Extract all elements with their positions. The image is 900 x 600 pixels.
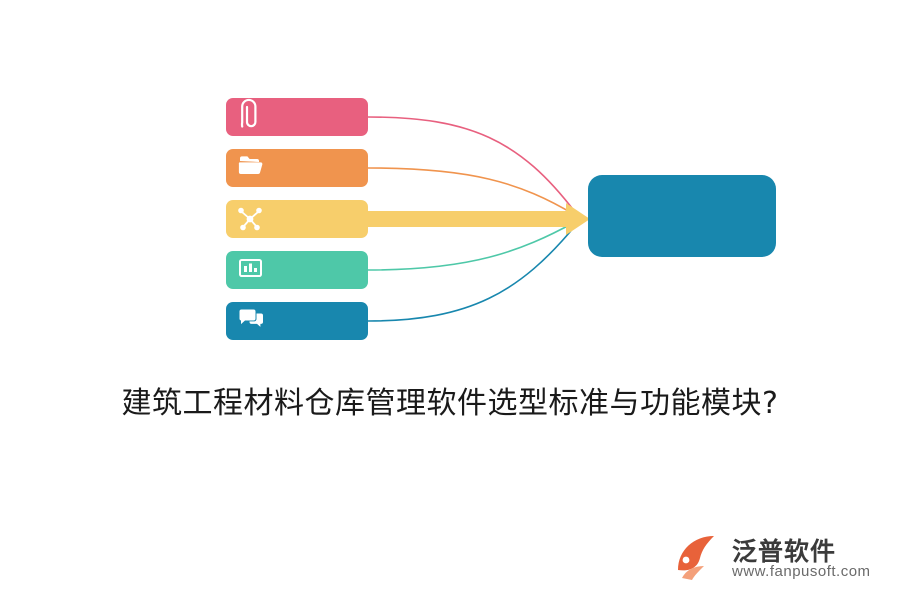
logo-mark-icon	[672, 530, 726, 584]
connector-4	[368, 222, 575, 270]
connector-5	[368, 226, 575, 321]
connector-2	[368, 168, 575, 215]
hub-node[interactable]	[588, 175, 776, 257]
brand-logo[interactable]: 泛普软件 www.fanpusoft.com	[672, 530, 882, 586]
logo-url: www.fanpusoft.com	[732, 563, 871, 580]
item-node-4[interactable]	[226, 251, 368, 289]
item-node-5[interactable]	[226, 302, 368, 340]
page-title: 建筑工程材料仓库管理软件选型标准与功能模块?	[0, 378, 900, 422]
diagram-canvas	[0, 0, 900, 370]
page-canvas: 建筑工程材料仓库管理软件选型标准与功能模块? 泛普软件 www.fanpusof…	[0, 0, 900, 600]
